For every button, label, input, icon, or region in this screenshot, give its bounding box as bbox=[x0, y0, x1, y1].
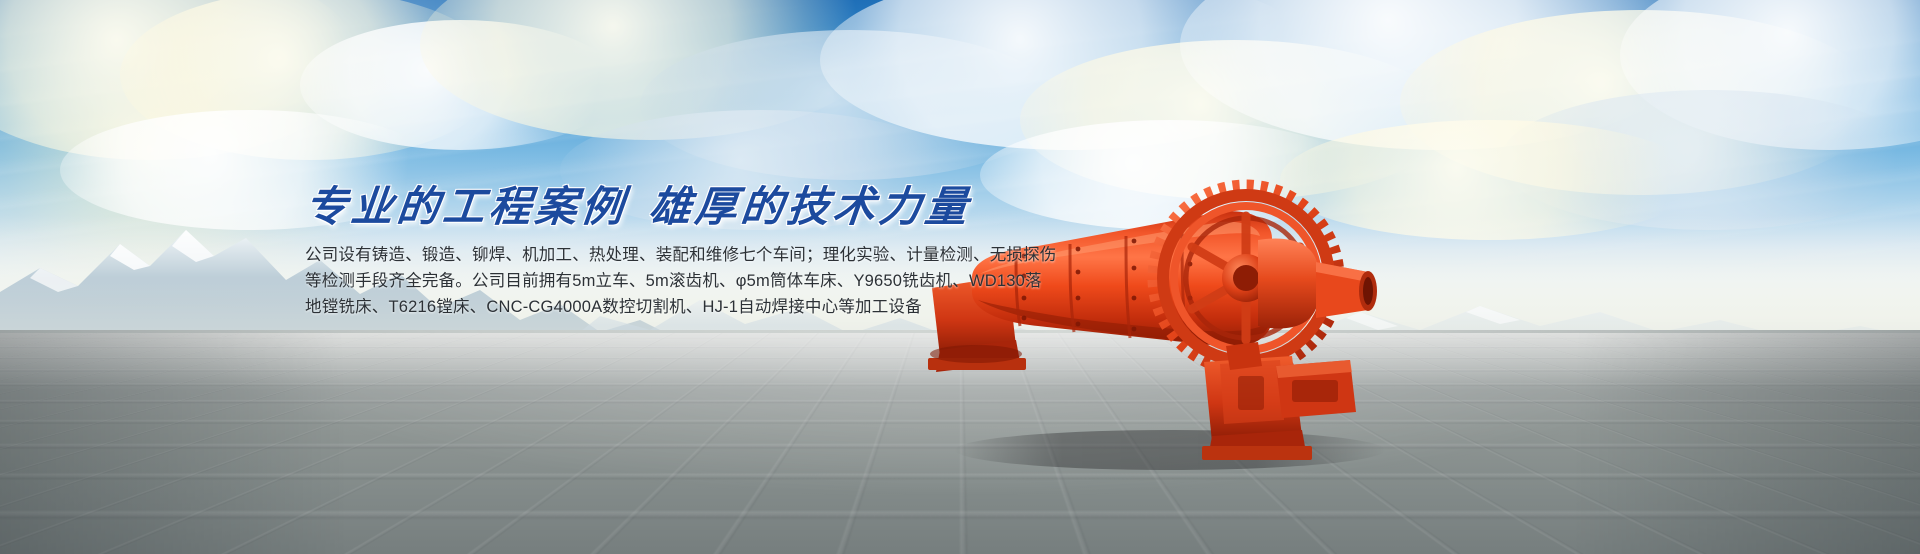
promo-banner: 专业的工程案例雄厚的技术力量 公司设有铸造、锻造、铆焊、机加工、热处理、装配和维… bbox=[0, 0, 1920, 554]
ground-vignette bbox=[0, 330, 1920, 554]
headline-right: 雄厚的技术力量 bbox=[647, 185, 974, 231]
body-line-3: 地镗铣床、T6216镗床、CNC-CG4000A数控切割机、HJ-1自动焊接中心… bbox=[305, 294, 945, 320]
horizon-line bbox=[0, 330, 1920, 333]
banner-headline: 专业的工程案例雄厚的技术力量 bbox=[303, 186, 948, 230]
banner-copy: 专业的工程案例雄厚的技术力量 公司设有铸造、锻造、铆焊、机加工、热处理、装配和维… bbox=[305, 186, 945, 320]
paved-ground bbox=[0, 330, 1920, 554]
body-line-1: 公司设有铸造、锻造、铆焊、机加工、热处理、装配和维修七个车间；理化实验、计量检测… bbox=[305, 242, 945, 268]
banner-body: 公司设有铸造、锻造、铆焊、机加工、热处理、装配和维修七个车间；理化实验、计量检测… bbox=[305, 242, 945, 320]
headline-left: 专业的工程案例 bbox=[303, 185, 630, 231]
body-line-2: 等检测手段齐全完备。公司目前拥有5m立车、5m滚齿机、φ5m筒体车床、Y9650… bbox=[305, 268, 945, 294]
